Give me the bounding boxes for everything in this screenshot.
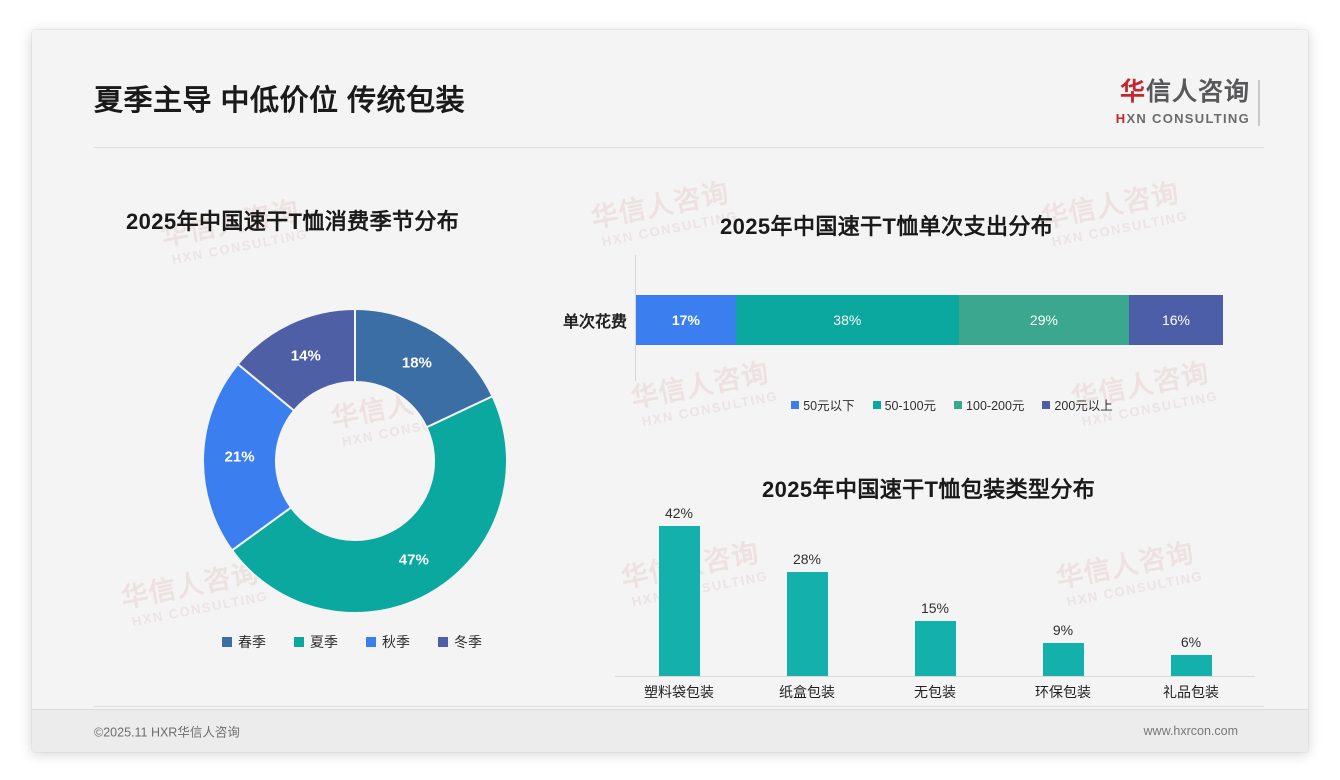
column-chart-panel: 42%28%15%9%6% 塑料袋包装纸盒包装无包装环保包装礼品包装 — [602, 450, 1272, 710]
stacked-bar-legend: 50元以下50-100元100-200元200元以上 — [632, 395, 1272, 414]
legend-label: 春季 — [238, 632, 266, 652]
legend-item[interactable]: 100-200元 — [954, 395, 1024, 414]
footer-website[interactable]: www.hxrcon.com — [1144, 724, 1238, 738]
column-chart-baseline — [615, 676, 1255, 677]
column-chart-plot: 42%28%15%9%6% — [615, 505, 1255, 677]
header-divider — [94, 147, 1264, 148]
stacked-bar-segment[interactable]: 17% — [636, 295, 736, 345]
donut-slice-label: 18% — [402, 355, 432, 372]
stacked-bar-chart-panel: 单次花费 17%38%29%16% 50元以下50-100元100-200元20… — [632, 180, 1272, 425]
column-group: 42% — [615, 505, 743, 677]
stacked-bar-row-label: 单次花费 — [537, 308, 627, 332]
stacked-bar-segment[interactable]: 16% — [1129, 295, 1223, 345]
column-value-label: 9% — [1053, 622, 1073, 638]
legend-item[interactable]: 秋季 — [366, 632, 410, 652]
column-bar[interactable] — [915, 621, 956, 677]
legend-label: 200元以上 — [1054, 395, 1112, 414]
column-x-label: 无包装 — [871, 682, 999, 702]
column-x-label: 塑料袋包装 — [615, 682, 743, 702]
legend-item[interactable]: 夏季 — [294, 632, 338, 652]
logo-cn-accent: 华 — [1120, 78, 1146, 106]
legend-swatch-icon — [873, 401, 881, 409]
page-title: 夏季主导 中低价位 传统包装 — [94, 77, 465, 119]
logo-cn-rest: 信人咨询 — [1146, 78, 1250, 106]
legend-swatch-icon — [791, 401, 799, 409]
legend-item[interactable]: 冬季 — [438, 632, 482, 652]
legend-item[interactable]: 50-100元 — [873, 395, 936, 414]
column-bar[interactable] — [659, 526, 700, 677]
logo-en-rest: XN CONSULTING — [1126, 111, 1250, 126]
logo-en-accent: H — [1116, 111, 1127, 126]
column-value-label: 15% — [921, 600, 949, 616]
legend-label: 50元以下 — [803, 395, 854, 414]
column-x-label: 纸盒包装 — [743, 682, 871, 702]
footer-copyright: ©2025.11 HXR华信人咨询 — [94, 722, 240, 741]
legend-label: 冬季 — [454, 632, 482, 652]
stacked-bar: 17%38%29%16% — [636, 295, 1223, 345]
donut-chart-panel: 18%47%21%14% 春季夏季秋季冬季 — [72, 180, 632, 670]
footnote-divider — [94, 706, 1264, 707]
slide-card: 华信人咨询HXN CONSULTING 华信人咨询HXN CONSULTING … — [32, 30, 1308, 752]
slide-header: 夏季主导 中低价位 传统包装 华信人咨询 HXN CONSULTING — [32, 30, 1308, 135]
column-x-label: 礼品包装 — [1127, 682, 1255, 702]
column-bar[interactable] — [787, 572, 828, 677]
column-value-label: 28% — [793, 551, 821, 567]
logo-english-text: HXN CONSULTING — [1116, 111, 1250, 126]
legend-swatch-icon — [222, 637, 232, 647]
legend-label: 秋季 — [382, 632, 410, 652]
legend-swatch-icon — [438, 637, 448, 647]
legend-item[interactable]: 200元以上 — [1042, 395, 1112, 414]
column-x-label: 环保包装 — [999, 682, 1127, 702]
donut-chart: 18%47%21%14% — [199, 305, 511, 617]
column-value-label: 42% — [665, 505, 693, 521]
legend-label: 100-200元 — [966, 395, 1024, 414]
legend-swatch-icon — [294, 637, 304, 647]
legend-label: 夏季 — [310, 632, 338, 652]
legend-label: 50-100元 — [885, 395, 936, 414]
stacked-bar-segment[interactable]: 38% — [736, 295, 959, 345]
column-group: 15% — [871, 505, 999, 677]
column-bar[interactable] — [1171, 655, 1212, 677]
logo-chinese-text: 华信人咨询 — [1116, 80, 1250, 105]
company-logo: 华信人咨询 HXN CONSULTING — [1116, 80, 1260, 126]
donut-slice-label: 14% — [291, 348, 321, 365]
column-group: 6% — [1127, 505, 1255, 677]
legend-swatch-icon — [954, 401, 962, 409]
column-value-label: 6% — [1181, 634, 1201, 650]
donut-slice-label: 47% — [399, 552, 429, 569]
legend-swatch-icon — [366, 637, 376, 647]
stacked-bar-segment[interactable]: 29% — [959, 295, 1129, 345]
legend-swatch-icon — [1042, 401, 1050, 409]
column-group: 28% — [743, 505, 871, 677]
column-bar[interactable] — [1043, 643, 1084, 677]
column-group: 9% — [999, 505, 1127, 677]
legend-item[interactable]: 春季 — [222, 632, 266, 652]
donut-legend: 春季夏季秋季冬季 — [72, 632, 632, 652]
footer-bar: ©2025.11 HXR华信人咨询 www.hxrcon.com — [32, 709, 1308, 752]
donut-slice-label: 21% — [225, 449, 255, 466]
legend-item[interactable]: 50元以下 — [791, 395, 854, 414]
